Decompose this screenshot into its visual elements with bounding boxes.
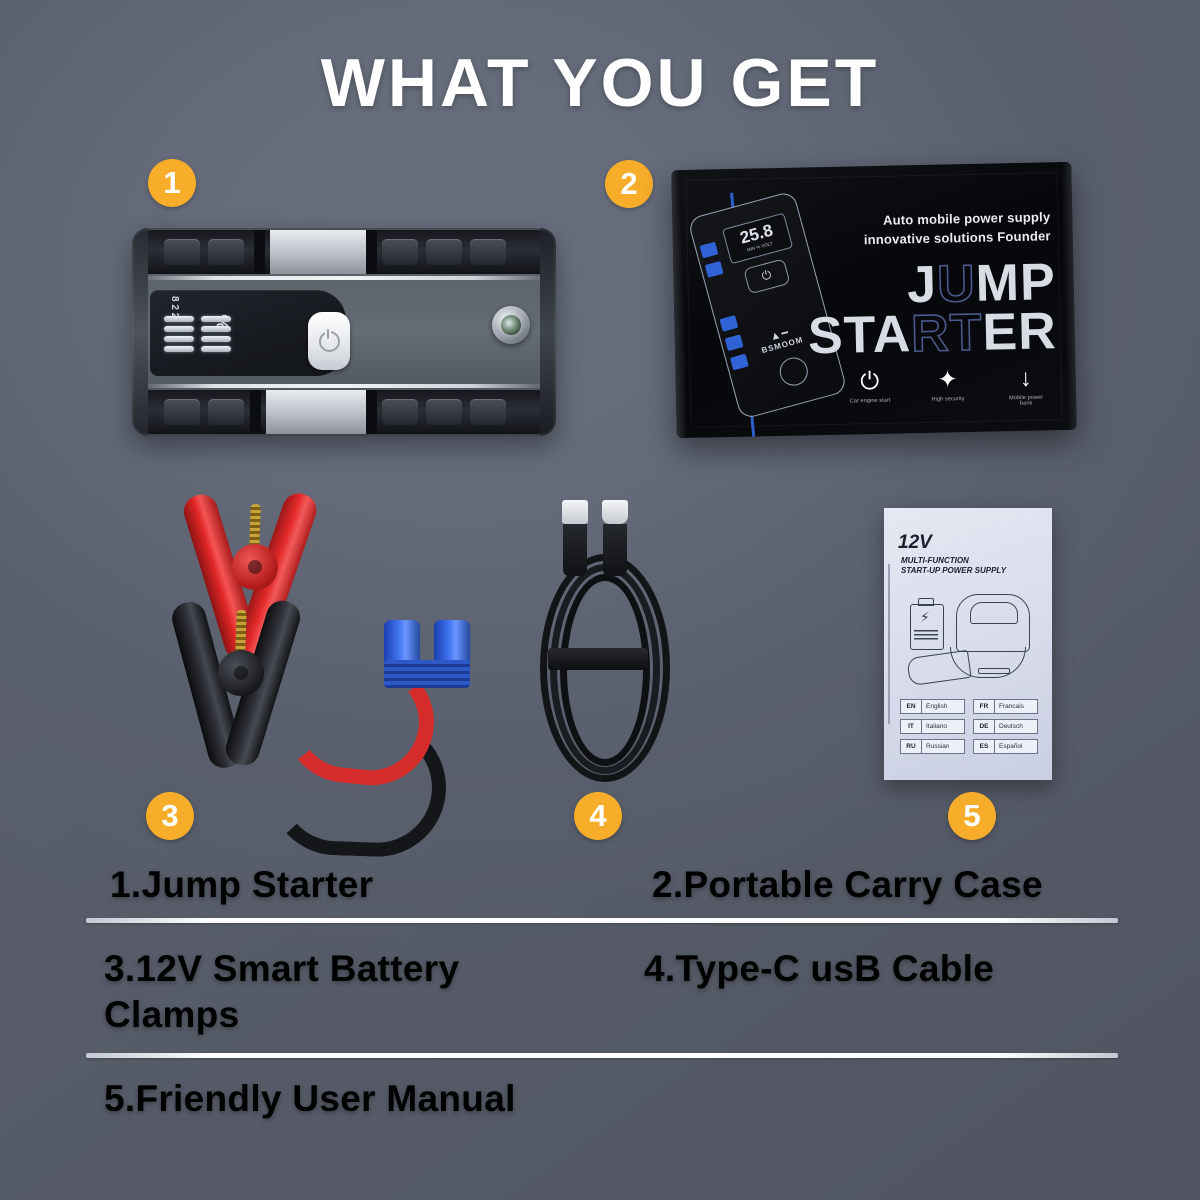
usb-c-connector [602, 500, 628, 576]
usb-a-connector [562, 500, 588, 576]
feature-shield-star-icon: ✦ High security [921, 367, 974, 409]
ec5-base [384, 660, 470, 688]
case-headline: JUMP STARTER [807, 258, 1058, 362]
caption-item-2: 2.Portable Carry Case [652, 862, 1043, 908]
ec5-connector [384, 620, 476, 688]
illustration-lamp-icon [777, 354, 811, 388]
manual-title-subtitle: MULTI-FUNCTION START-UP POWER SUPPLY [901, 554, 1006, 576]
language-row: DEDeutsch [973, 719, 1038, 734]
caption-divider [86, 1053, 1118, 1058]
manual-title: 12V MULTI-FUNCTION START-UP POWER SUPPLY [898, 532, 1042, 576]
clamp-spring [235, 610, 247, 654]
battery-lines [914, 630, 938, 642]
unit-bevel [132, 228, 556, 436]
language-row: ENEnglish [900, 699, 965, 714]
caption-item-1: 1.Jump Starter [110, 862, 373, 908]
caption-divider [86, 918, 1118, 923]
clamp-negative-pivot [218, 650, 264, 696]
manual-title-voltage: 12V [898, 532, 932, 554]
illustration-display: 25.8 MIN % VOLT [722, 213, 793, 265]
caption-item-3: 3.12V Smart Battery Clamps [104, 946, 459, 1039]
language-row: ESEspañol [973, 739, 1038, 754]
page-title: WHAT YOU GET [0, 44, 1200, 122]
case-feature-icons: ⏻ Car engine start ✦ High security ↓ Mob… [843, 365, 1052, 410]
manual-spine [888, 564, 890, 724]
manual-language-list: ENEnglish FRFrancais ITItaliano DEDeutsc… [900, 699, 1038, 754]
badge-2: 2 [605, 160, 653, 208]
product-jump-starter: 8 2 2 % [132, 228, 556, 436]
lightning-bolt-icon: ⚡ [920, 610, 930, 624]
caption-item-4: 4.Type-C usB Cable [644, 946, 994, 992]
badge-5: 5 [948, 792, 996, 840]
feature-power-icon: ⏻ Car engine start [843, 369, 896, 411]
clamp-illustration [906, 650, 971, 686]
badge-4: 4 [574, 792, 622, 840]
clamp-spring [249, 504, 261, 548]
illustration-power-icon: ⏻ [743, 258, 790, 294]
caption-item-5: 5.Friendly User Manual [104, 1076, 516, 1122]
badge-1: 1 [148, 159, 196, 207]
cable-velcro-strap [548, 648, 648, 670]
case-tagline-line2: innovative solutions Founder [864, 227, 1051, 250]
product-user-manual: 12V MULTI-FUNCTION START-UP POWER SUPPLY… [884, 508, 1052, 780]
feature-usb-plug-icon: ↓ Mobile power bank [999, 365, 1052, 407]
car-window [970, 602, 1018, 624]
product-usb-cable [534, 500, 664, 785]
manual-illustration: ⚡ [906, 590, 1032, 684]
language-row: ITItaliano [900, 719, 965, 734]
case-right-edge [1061, 162, 1077, 430]
language-row: RURussian [900, 739, 965, 754]
battery-cap [918, 598, 934, 606]
case-tagline: Auto mobile power supply innovative solu… [863, 208, 1051, 250]
clamp-positive-pivot [232, 544, 278, 590]
badge-3: 3 [146, 792, 194, 840]
product-battery-clamps [168, 482, 498, 792]
case-headline-starter: STARTER [808, 308, 1058, 363]
product-carry-case: 25.8 MIN % VOLT ⏻ ▲━ BSMOOM Auto mobile … [671, 162, 1077, 438]
infographic-page: WHAT YOU GET 1 8 2 2 % [0, 0, 1200, 1200]
language-row: FRFrancais [973, 699, 1038, 714]
cable-coil [560, 574, 650, 766]
